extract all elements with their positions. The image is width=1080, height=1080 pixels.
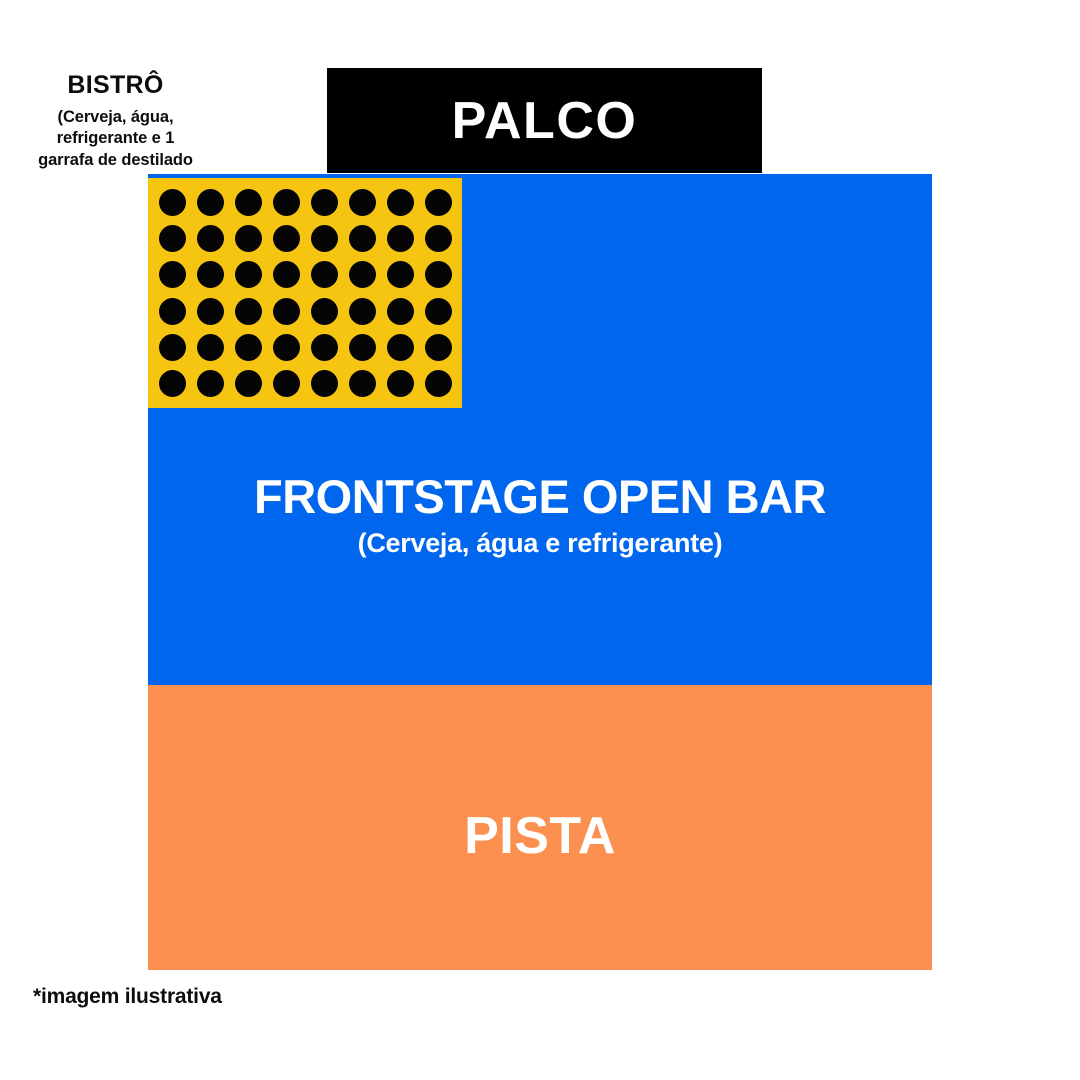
bistro-legend-title: BISTRÔ [8, 72, 223, 100]
bistro-table-dot[interactable] [311, 189, 338, 216]
frontstage-subtitle: (Cerveja, água e refrigerante) [148, 527, 932, 559]
bistro-table-dot[interactable] [387, 334, 414, 361]
bistro-table-dot[interactable] [273, 298, 300, 325]
bistro-table-dot[interactable] [197, 370, 224, 397]
bistro-table-dot[interactable] [273, 370, 300, 397]
bistro-table-dot[interactable] [311, 298, 338, 325]
pista-label: PISTA [148, 810, 932, 862]
bistro-table-dot[interactable] [235, 261, 262, 288]
bistro-table-dot[interactable] [159, 189, 186, 216]
frontstage-title: FRONTSTAGE OPEN BAR [148, 472, 932, 521]
bistro-table-dot[interactable] [425, 261, 452, 288]
bistro-table-dot[interactable] [159, 298, 186, 325]
bistro-table-dot[interactable] [311, 334, 338, 361]
bistro-table-dot[interactable] [197, 261, 224, 288]
bistro-table-dot[interactable] [311, 370, 338, 397]
bistro-table-dot[interactable] [387, 298, 414, 325]
bistro-table-dot[interactable] [273, 334, 300, 361]
bistro-legend-line-2: refrigerante e 1 [8, 128, 223, 150]
bistro-table-dot[interactable] [349, 261, 376, 288]
bistro-table-dot[interactable] [197, 334, 224, 361]
bistro-table-dot[interactable] [235, 334, 262, 361]
bistro-tables-area[interactable] [148, 178, 462, 408]
bistro-table-dot[interactable] [235, 225, 262, 252]
bistro-table-dot[interactable] [197, 298, 224, 325]
bistro-table-dot[interactable] [387, 370, 414, 397]
bistro-table-dot[interactable] [425, 334, 452, 361]
bistro-table-dot[interactable] [159, 261, 186, 288]
stage-area[interactable]: PALCO [327, 68, 762, 173]
venue-map: BISTRÔ (Cerveja, água, refrigerante e 1 … [0, 0, 1080, 1080]
bistro-legend-line-3: garrafa de destilado [8, 150, 223, 172]
bistro-table-dot[interactable] [235, 189, 262, 216]
bistro-table-dot[interactable] [311, 225, 338, 252]
bistro-table-dot[interactable] [235, 370, 262, 397]
bistro-table-dot[interactable] [273, 189, 300, 216]
bistro-table-dot[interactable] [197, 225, 224, 252]
bistro-legend: BISTRÔ (Cerveja, água, refrigerante e 1 … [8, 72, 223, 172]
bistro-table-dot[interactable] [235, 298, 262, 325]
bistro-table-dot[interactable] [425, 370, 452, 397]
bistro-table-dot[interactable] [349, 334, 376, 361]
bistro-legend-line-1: (Cerveja, água, [8, 107, 223, 129]
bistro-table-dot[interactable] [387, 225, 414, 252]
bistro-table-dot[interactable] [349, 298, 376, 325]
bistro-table-dot[interactable] [273, 261, 300, 288]
stage-label: PALCO [452, 95, 638, 147]
bistro-table-dot[interactable] [159, 370, 186, 397]
bistro-table-dot[interactable] [349, 225, 376, 252]
pista-area[interactable]: PISTA [148, 685, 932, 970]
bistro-table-dot[interactable] [159, 225, 186, 252]
bistro-table-dot[interactable] [387, 189, 414, 216]
bistro-table-dot[interactable] [349, 370, 376, 397]
bistro-table-dot[interactable] [425, 225, 452, 252]
bistro-table-dot[interactable] [349, 189, 376, 216]
bistro-table-dot[interactable] [159, 334, 186, 361]
frontstage-text-group: FRONTSTAGE OPEN BAR (Cerveja, água e ref… [148, 472, 932, 560]
bistro-table-dot[interactable] [425, 189, 452, 216]
illustrative-image-note: *imagem ilustrativa [33, 985, 222, 1009]
bistro-table-dot[interactable] [197, 189, 224, 216]
bistro-table-dot[interactable] [311, 261, 338, 288]
bistro-table-dot[interactable] [273, 225, 300, 252]
bistro-table-dot[interactable] [387, 261, 414, 288]
bistro-table-dot[interactable] [425, 298, 452, 325]
